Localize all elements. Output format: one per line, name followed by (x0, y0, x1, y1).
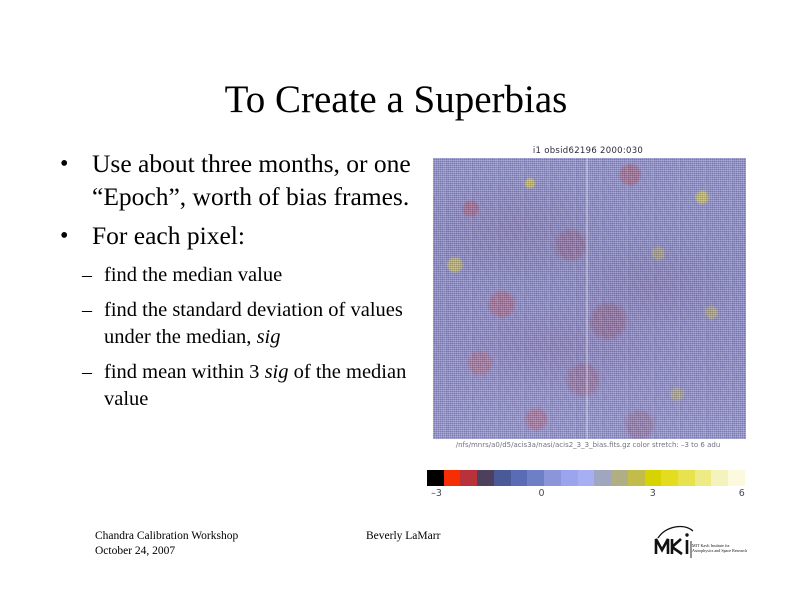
colorbar-band-2 (460, 470, 477, 486)
dash-icon: – (82, 297, 92, 324)
dash-icon: – (82, 262, 92, 289)
sub-bullet-text-pre: find the median value (104, 264, 282, 286)
slide-canvas: To Create a Superbias • Use about three … (0, 0, 792, 612)
colorbar-band-15 (678, 470, 695, 486)
colorbar-tick-labels: –3036 (427, 486, 745, 500)
colorbar-band-14 (661, 470, 678, 486)
colorbar-tick-2: 3 (650, 488, 656, 499)
colorbar-band-16 (695, 470, 712, 486)
figure-caption-top: i1 obsid62196 2000:030 (427, 146, 749, 158)
mki-logo: MIT Kavli Institute for Astrophysics and… (652, 524, 752, 570)
bullet-dot-icon: • (60, 148, 68, 181)
page-title: To Create a Superbias (0, 78, 792, 122)
colorbar-band-12 (628, 470, 645, 486)
bias-frame-node-seam (586, 158, 588, 439)
figure-caption-bottom: /nfs/mnrs/a0/d5/acis3a/nasi/acis2_3_3_bi… (427, 440, 749, 450)
sub-bullet-text: find the standard deviation of values un… (104, 299, 403, 348)
colorbar-band-4 (494, 470, 511, 486)
bias-frame-column-structure (433, 158, 746, 439)
bullet-dot-icon: • (60, 220, 68, 253)
bullet-item: • Use about three months, or one “Epoch”… (54, 148, 422, 213)
sub-bullet-group: – find the median value – find the stand… (54, 262, 422, 413)
footer-date: October 24, 2007 (95, 544, 238, 559)
colorbar-band-0 (427, 470, 444, 486)
colorbar-band-8 (561, 470, 578, 486)
colorbar-band-5 (511, 470, 528, 486)
colorbar-band-10 (594, 470, 611, 486)
colorbar-band-1 (444, 470, 461, 486)
sub-bullet-item: – find the median value (54, 262, 422, 289)
sub-bullet-item: – find the standard deviation of values … (54, 297, 422, 350)
colorbar-band-9 (578, 470, 595, 486)
body-content: • Use about three months, or one “Epoch”… (54, 148, 422, 421)
colorbar-band-7 (544, 470, 561, 486)
sub-bullet-text: find mean within 3 sig of the median val… (104, 361, 406, 410)
colorbar-band-3 (477, 470, 494, 486)
bias-frame-image (433, 158, 746, 439)
bullet-text: Use about three months, or one “Epoch”, … (92, 149, 411, 211)
colorbar-band-6 (527, 470, 544, 486)
ccd-figure: i1 obsid62196 2000:030 /nfs/mnrs/a0/d5/a… (427, 146, 749, 450)
colorbar-band-13 (645, 470, 662, 486)
footer-event: Chandra Calibration Workshop (95, 529, 238, 544)
sub-bullet-text-emphasis: sig (257, 326, 281, 348)
sub-bullet-item: – find mean within 3 sig of the median v… (54, 359, 422, 412)
colorbar-band-17 (711, 470, 728, 486)
sub-bullet-text: find the median value (104, 264, 282, 286)
colorbar-band-11 (611, 470, 628, 486)
sub-bullet-text-emphasis: sig (265, 361, 289, 383)
colorbar-band-18 (728, 470, 745, 486)
sub-bullet-text-pre: find the standard deviation of values un… (104, 299, 403, 348)
footer-left: Chandra Calibration Workshop October 24,… (95, 529, 238, 558)
sub-bullet-text-pre: find mean within 3 (104, 361, 265, 383)
dash-icon: – (82, 359, 92, 386)
colorbar-gradient (427, 470, 745, 486)
bullet-item: • For each pixel: (54, 220, 422, 253)
colorbar-tick-0: –3 (431, 488, 442, 499)
mki-logo-subtext: MIT Kavli Institute for Astrophysics and… (692, 543, 750, 553)
colorbar-legend: –3036 (427, 470, 749, 500)
footer-author: Beverly LaMarr (366, 529, 440, 544)
colorbar-tick-1: 0 (538, 488, 544, 499)
bullet-text: For each pixel: (92, 221, 245, 250)
colorbar-tick-3: 6 (739, 488, 745, 499)
